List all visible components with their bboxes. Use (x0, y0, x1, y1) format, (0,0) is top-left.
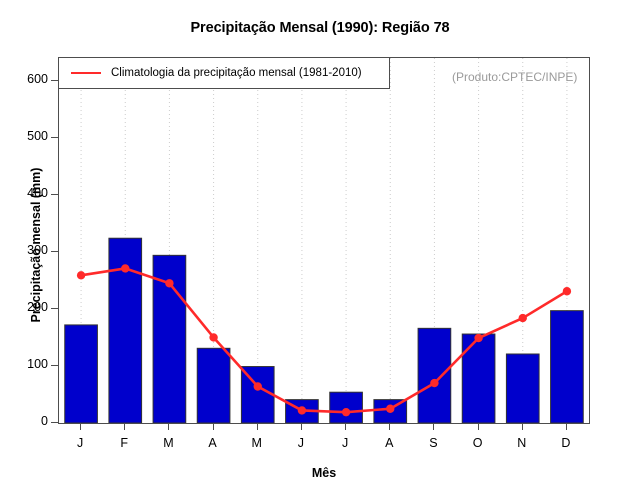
x-tick-mark (80, 423, 81, 430)
y-tick-label: 600 (8, 72, 48, 86)
climatology-data-point (254, 382, 262, 390)
y-tick-label: 0 (8, 414, 48, 428)
climatology-data-point (342, 408, 350, 416)
x-tick-mark (124, 423, 125, 430)
y-tick-mark (51, 365, 58, 366)
x-tick-mark (478, 423, 479, 430)
climatology-data-point (519, 314, 527, 322)
x-tick-mark (345, 423, 346, 430)
y-tick-mark (51, 194, 58, 195)
x-tick-mark (168, 423, 169, 430)
chart-title: Precipitação Mensal (1990): Região 78 (0, 20, 640, 36)
x-tick-mark (389, 423, 390, 430)
x-tick-label: O (458, 436, 498, 450)
produto-annotation: (Produto:CPTEC/INPE) (452, 70, 577, 84)
x-tick-label: N (502, 436, 542, 450)
climatology-data-point (298, 406, 306, 414)
x-tick-label: M (148, 436, 188, 450)
legend-item-label: Climatologia da precipitação mensal (198… (111, 67, 362, 79)
bar (551, 311, 584, 423)
x-tick-mark (433, 423, 434, 430)
x-tick-label: A (369, 436, 409, 450)
y-tick-mark (51, 422, 58, 423)
x-tick-mark (522, 423, 523, 430)
climatology-markers (77, 264, 571, 416)
x-tick-label: J (60, 436, 100, 450)
y-tick-mark (51, 251, 58, 252)
y-tick-mark (51, 137, 58, 138)
bar (418, 328, 451, 423)
bar (506, 354, 539, 423)
bar (197, 348, 230, 423)
x-tick-label: M (237, 436, 277, 450)
climatology-data-point (209, 333, 217, 341)
climatology-data-point (474, 334, 482, 342)
chart-figure: Precipitação Mensal (1990): Região 78 Pr… (0, 0, 640, 500)
legend-line-icon (71, 72, 101, 74)
climatology-data-point (77, 271, 85, 279)
climatology-data-point (430, 379, 438, 387)
climatology-data-point (121, 264, 129, 272)
x-tick-mark (213, 423, 214, 430)
plot-area (58, 57, 590, 424)
plot-canvas (59, 58, 589, 423)
y-axis-title: Precipitação mensal (mm) (29, 105, 43, 385)
y-tick-mark (51, 80, 58, 81)
climatology-data-point (386, 405, 394, 413)
x-tick-label: A (193, 436, 233, 450)
x-tick-label: F (104, 436, 144, 450)
climatology-data-point (165, 279, 173, 287)
x-tick-label: J (281, 436, 321, 450)
y-tick-mark (51, 308, 58, 309)
x-tick-label: S (413, 436, 453, 450)
x-tick-label: J (325, 436, 365, 450)
x-tick-mark (301, 423, 302, 430)
climatology-data-point (563, 287, 571, 295)
x-axis-title: Mês (58, 466, 590, 480)
bar (462, 334, 495, 423)
x-tick-mark (566, 423, 567, 430)
bar-series (65, 238, 584, 423)
bar (330, 392, 363, 423)
x-tick-mark (257, 423, 258, 430)
legend[interactable]: Climatologia da precipitação mensal (198… (58, 57, 390, 89)
x-tick-label: D (546, 436, 586, 450)
bar (65, 325, 98, 423)
